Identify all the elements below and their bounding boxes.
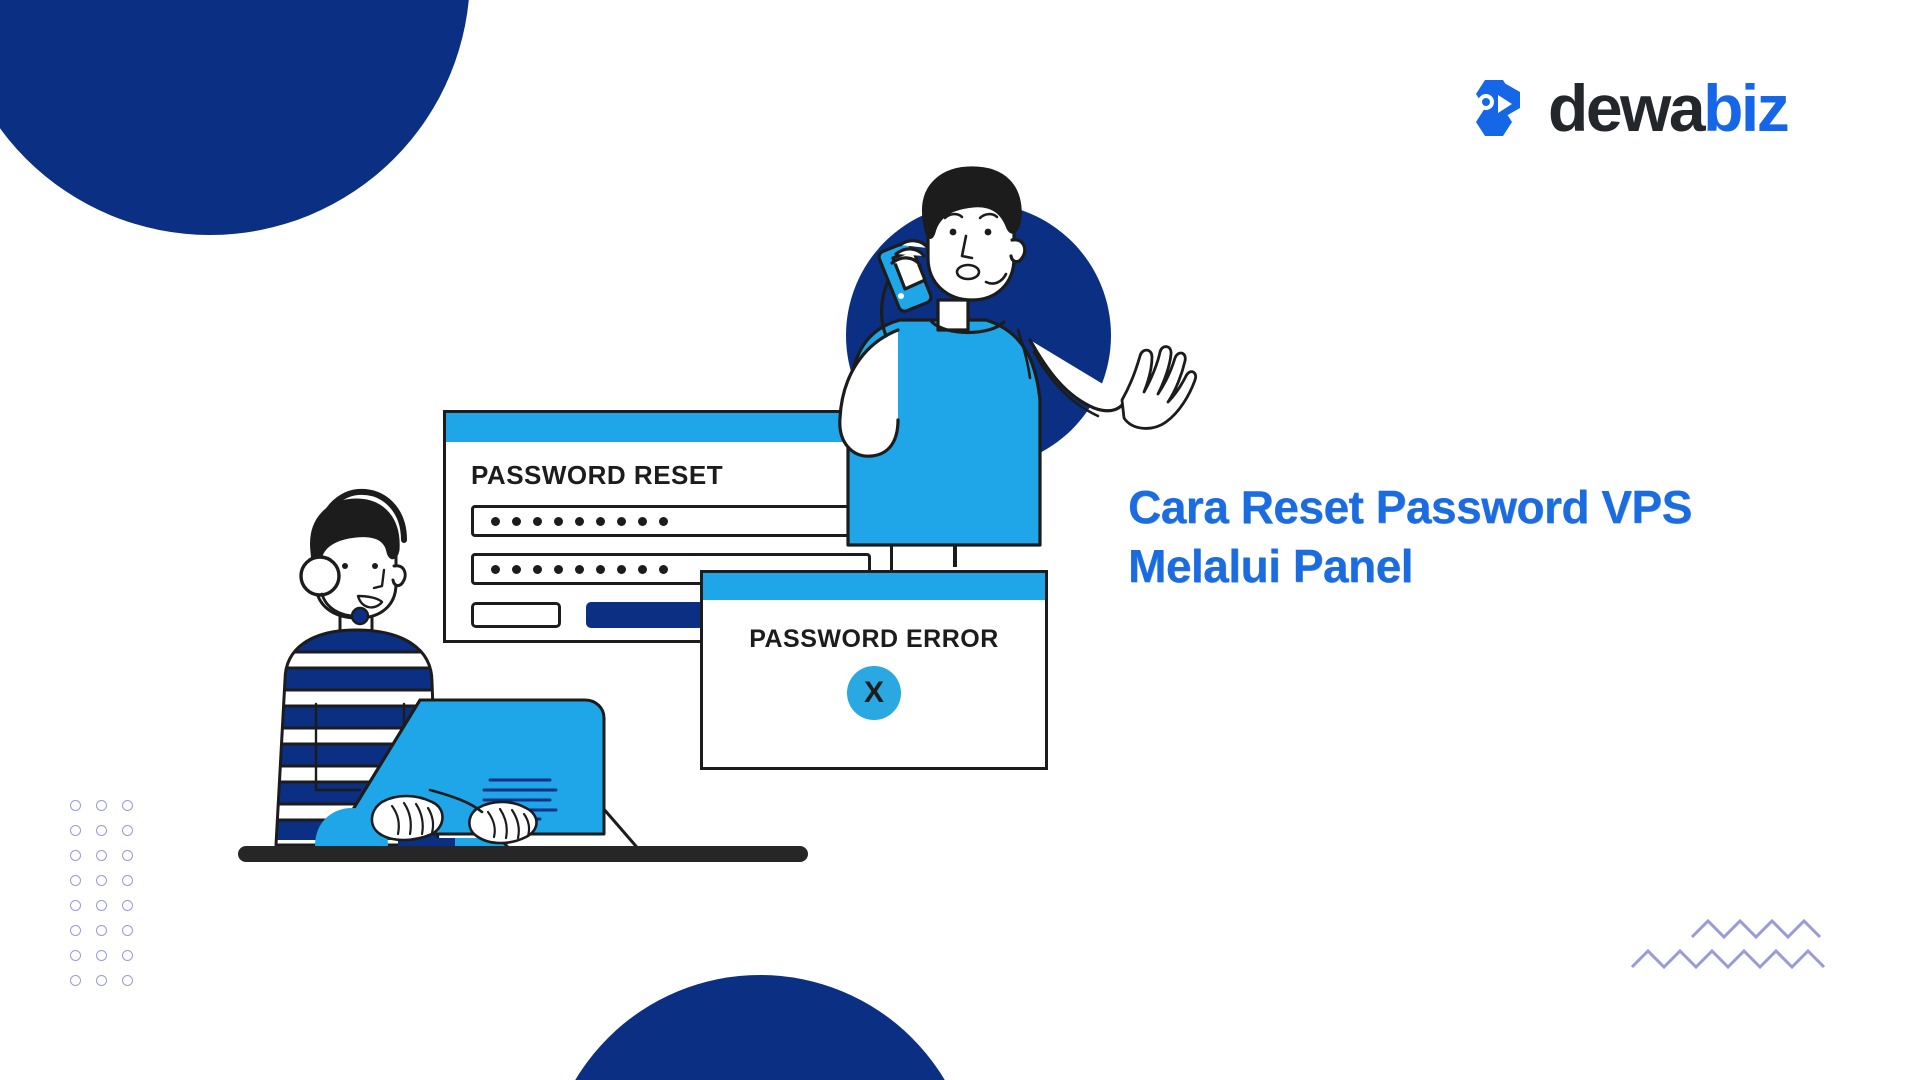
page-title: Cara Reset Password VPS Melalui Panel bbox=[1128, 478, 1848, 596]
page-title-line-1: Cara Reset Password VPS bbox=[1128, 478, 1848, 537]
desk-surface bbox=[238, 846, 808, 862]
poster-canvas: dewabiz PASSWORD RESET PASSWORD ERROR X bbox=[0, 0, 1920, 1080]
page-title-line-2: Melalui Panel bbox=[1128, 537, 1848, 596]
